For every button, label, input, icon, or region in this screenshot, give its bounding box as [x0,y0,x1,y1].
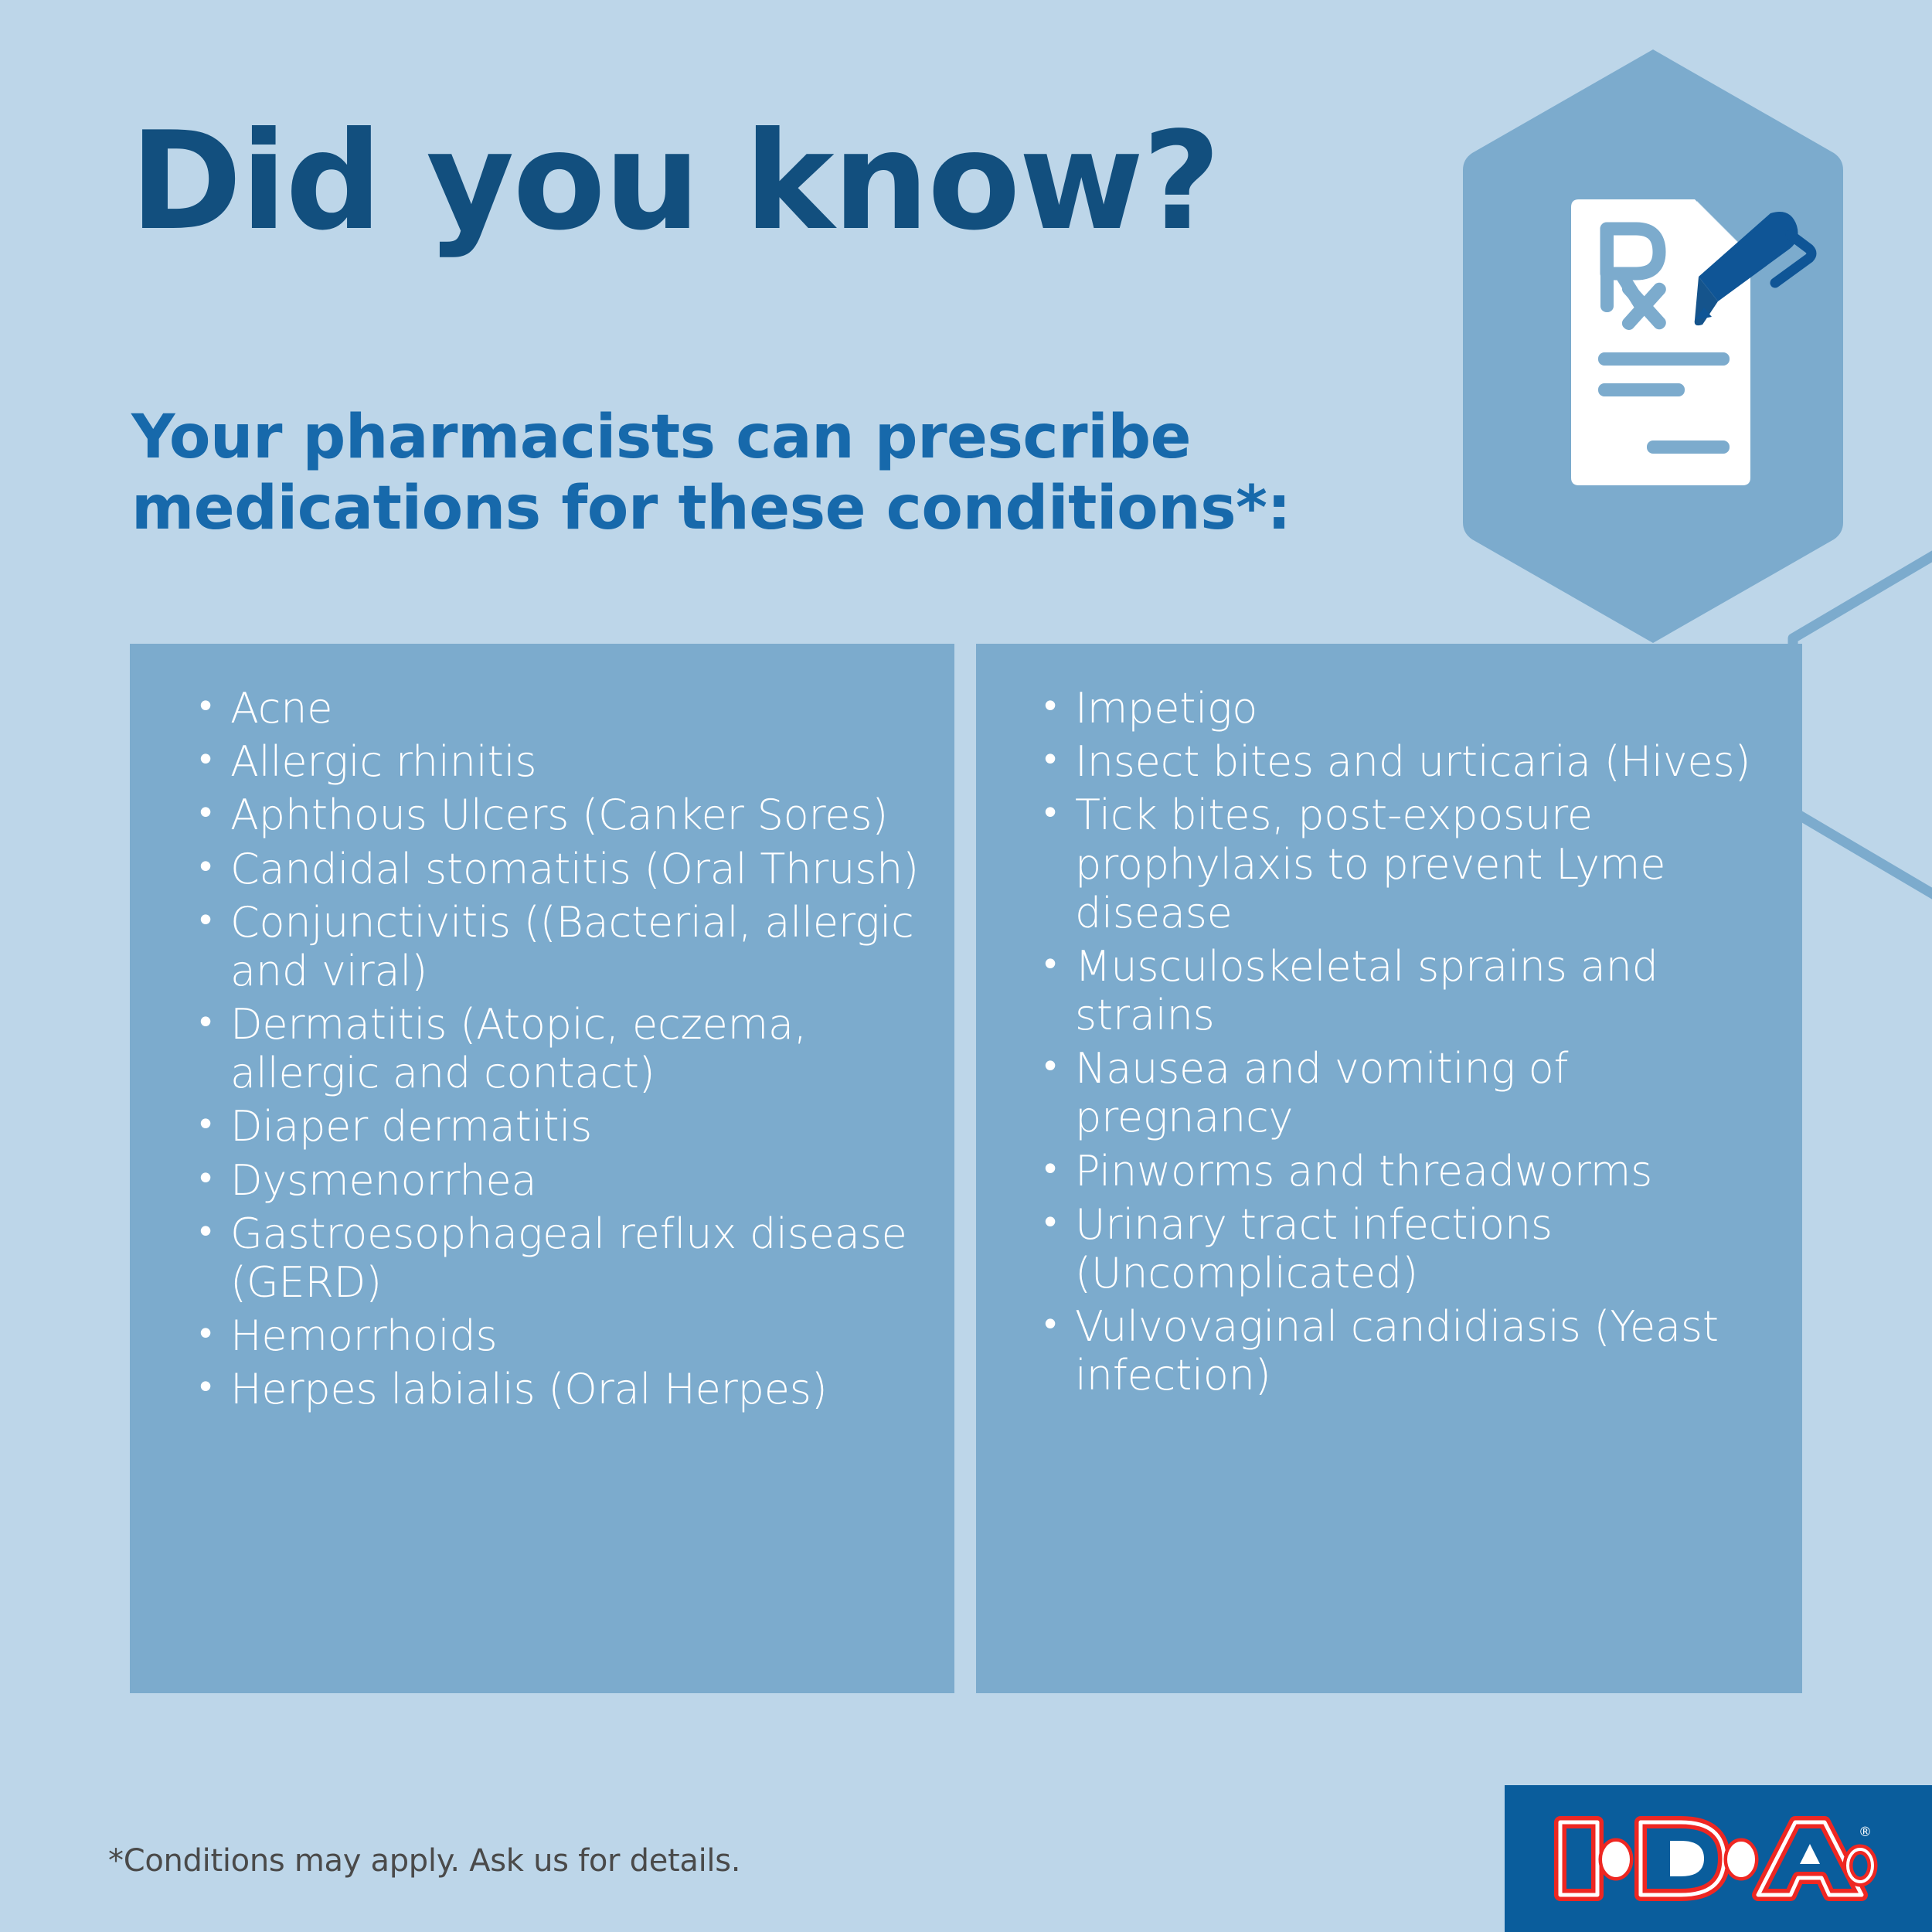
list-item: Insect bites and urticaria (Hives) [1027,737,1779,786]
list-item: Tick bites, post-exposure prophylaxis to… [1027,791,1779,937]
list-item: Gastroesophageal reflux disease (GERD) [182,1209,931,1307]
list-item: Vulvovaginal candidiasis (Yeast infectio… [1027,1302,1779,1400]
page-title: Did you know? [130,114,1219,250]
footnote-text: *Conditions may apply. Ask us for detail… [108,1843,740,1879]
list-item: Candidal stomatitis (Oral Thrush) [182,845,931,893]
list-item: Hemorrhoids [182,1311,931,1360]
ida-pharmacy-logo: ® [1549,1810,1882,1906]
conditions-panel-right: Impetigo Insect bites and urticaria (Hiv… [976,644,1802,1693]
infographic-canvas: Did you know? Your pharmacists can presc… [0,0,1932,1932]
list-item: Dermatitis (Atopic, eczema, allergic and… [182,1000,931,1097]
list-item: Allergic rhinitis [182,737,931,786]
list-item: Urinary tract infections (Uncomplicated) [1027,1200,1779,1298]
list-item: Musculoskeletal sprains and strains [1027,942,1779,1039]
conditions-panel-left: Acne Allergic rhinitis Aphthous Ulcers (… [130,644,954,1693]
list-item: Dysmenorrhea [182,1156,931,1205]
ida-logo-block: ® [1505,1785,1932,1932]
list-item: Acne [182,684,931,733]
list-item: Diaper dermatitis [182,1102,931,1151]
list-item: Herpes labialis (Oral Herpes) [182,1365,931,1413]
rx-prescription-with-pen-icon [1463,45,1843,648]
prescription-document [1571,199,1750,485]
subtitle-line-1: Your pharmacists can prescribe [131,402,1291,473]
page-subtitle: Your pharmacists can prescribe medicatio… [131,402,1291,544]
list-item: Impetigo [1027,684,1779,733]
conditions-list-left: Acne Allergic rhinitis Aphthous Ulcers (… [182,684,931,1413]
list-item: Nausea and vomiting of pregnancy [1027,1044,1779,1141]
list-item: Aphthous Ulcers (Canker Sores) [182,791,931,839]
list-item: Pinworms and threadworms [1027,1147,1779,1196]
registered-mark: ® [1859,1825,1872,1840]
conditions-list-right: Impetigo Insect bites and urticaria (Hiv… [1027,684,1779,1400]
list-item: Conjunctivitis ((Bacterial, allergic and… [182,898,931,995]
subtitle-line-2: medications for these conditions*: [131,473,1291,544]
